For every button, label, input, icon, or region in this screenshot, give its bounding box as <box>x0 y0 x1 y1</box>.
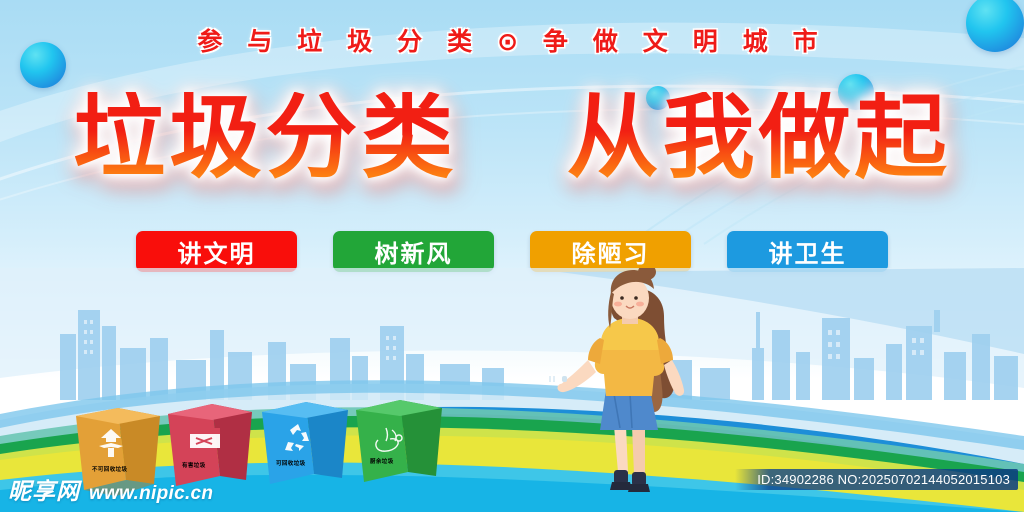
pill-label: 树新风 <box>375 234 453 269</box>
headline-part-left: 垃圾分类 <box>69 92 461 184</box>
pill-label: 除陋习 <box>572 234 650 269</box>
bin-food-waste[interactable]: 厨余垃圾 <box>356 400 442 482</box>
pill-choulouxi[interactable]: 除陋习 <box>530 231 691 272</box>
watermark: 昵享网 www.nipic.cn <box>8 472 213 506</box>
slogan-pill-row: 讲文明 树新风 除陋习 讲卫生 <box>0 231 1024 272</box>
bin-recyclable[interactable]: 可回收垃圾 <box>262 402 348 484</box>
pill-jiangweisheng[interactable]: 讲卫生 <box>727 231 888 272</box>
image-id-tag: ID:34902286 NO:20250702144052015103 <box>735 469 1018 490</box>
watermark-brand: 昵享网 <box>8 472 80 506</box>
headline-part-right: 从我做起 <box>563 92 955 184</box>
hazardous-icon <box>190 428 220 448</box>
pill-jiangwenming[interactable]: 讲文明 <box>136 231 297 272</box>
pill-label: 讲文明 <box>178 234 256 269</box>
pill-label: 讲卫生 <box>769 234 847 269</box>
main-headline: 垃圾分类 从我做起 <box>0 92 1024 184</box>
bin-label: 可回收垃圾 <box>276 459 306 467</box>
watermark-url: www.nipic.cn <box>89 483 213 505</box>
bin-label: 厨余垃圾 <box>370 457 394 465</box>
bin-label: 有害垃圾 <box>182 461 206 469</box>
top-slogan: 参 与 垃 圾 分 类 ⊙ 争 做 文 明 城 市 <box>0 22 1024 58</box>
pill-shuxinfeng[interactable]: 树新风 <box>333 231 494 272</box>
poster-canvas: 参 与 垃 圾 分 类 ⊙ 争 做 文 明 城 市 垃圾分类 从我做起 讲文明 … <box>0 0 1024 512</box>
